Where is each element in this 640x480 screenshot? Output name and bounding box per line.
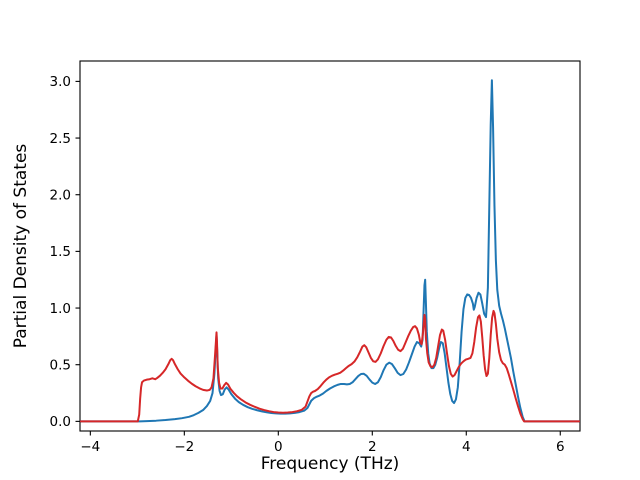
x-tick-label: 6	[556, 439, 565, 455]
pdos-figure: −4−20246 0.00.51.01.52.02.53.0 Frequency…	[0, 0, 640, 480]
x-tick-label: 2	[368, 439, 377, 455]
y-axis-label: Partial Density of States	[11, 144, 31, 349]
y-tick-label: 1.0	[50, 301, 71, 317]
y-tick-label: 2.0	[50, 188, 71, 204]
x-axis-label: Frequency (THz)	[261, 454, 400, 474]
y-tick-label: 2.5	[50, 131, 71, 147]
y-tick-label: 3.0	[50, 74, 71, 90]
y-tick-label: 0.0	[50, 414, 71, 430]
x-tick-label: −4	[80, 439, 100, 455]
y-tick-label: 0.5	[50, 358, 71, 374]
y-tick-label: 1.5	[50, 244, 71, 260]
x-tick-label: −2	[174, 439, 194, 455]
chart-page: −4−20246 0.00.51.01.52.02.53.0 Frequency…	[0, 0, 640, 480]
x-tick-label: 4	[462, 439, 471, 455]
figure-background	[0, 0, 640, 480]
x-tick-label: 0	[274, 439, 283, 455]
